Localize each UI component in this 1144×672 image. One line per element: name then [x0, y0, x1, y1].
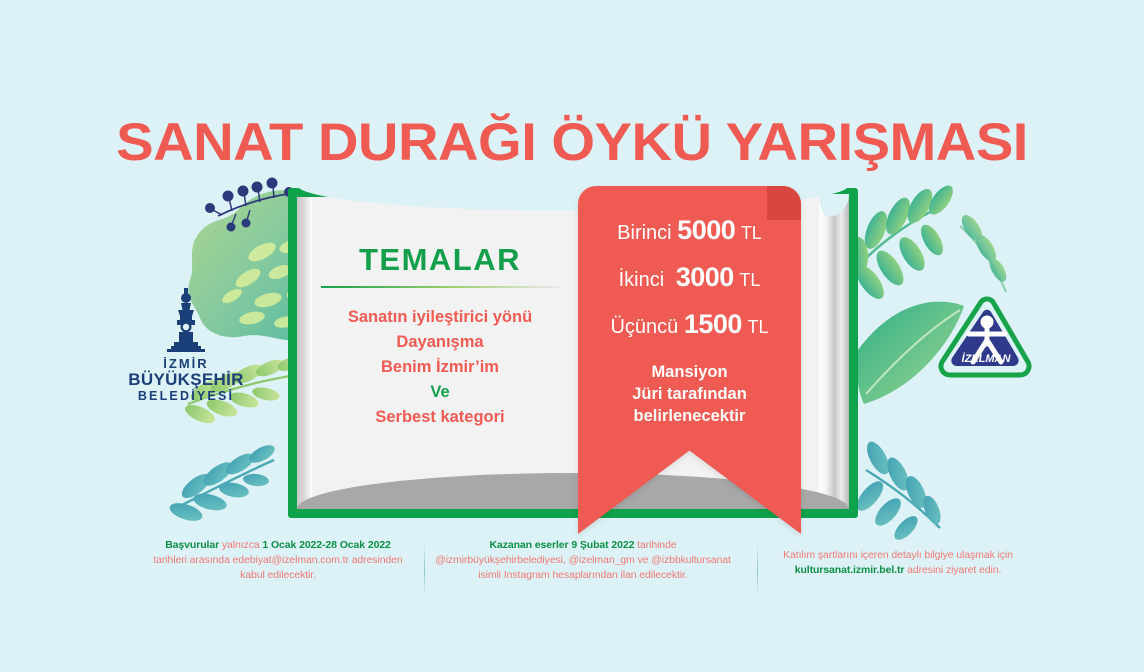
logo-line-belediyesi: BELEDİYESİ	[127, 389, 245, 403]
logo-line-buyuksehir: BÜYÜKŞEHİR	[127, 371, 245, 389]
footer-col2-bold1: Kazanan eserler 9 Şubat 2022	[489, 539, 634, 551]
footer-col1-bold1: Başvurular	[165, 539, 219, 551]
left-branch-teal	[168, 442, 278, 525]
right-fern-small	[958, 212, 1010, 292]
prize-row-3: Üçüncü 1500 TL	[578, 312, 801, 339]
prize-amount-3: 1500	[684, 309, 742, 339]
izelman-triangle-icon: İZELMAN	[936, 296, 1034, 382]
prize-label-2: İkinci	[619, 269, 665, 291]
footer-col2-rest1: tarihinde	[634, 539, 676, 551]
prize-currency-1: TL	[741, 223, 762, 243]
footer-col1-bold2: 1 Ocak 2022-28 Ocak 2022	[262, 539, 390, 551]
mention-line-1: Mansiyon	[578, 361, 801, 383]
clock-tower-icon	[154, 286, 218, 356]
footer: Başvurular yalnızca 1 Ocak 2022-28 Ocak …	[0, 538, 1144, 608]
footer-col3-bold: kultursanat.izmir.bel.tr	[795, 564, 905, 576]
themes-divider	[321, 286, 559, 288]
right-fern-teal	[852, 438, 944, 543]
prize-row-2: İkinci 3000 TL	[578, 265, 801, 292]
prize-amount-1: 5000	[677, 215, 735, 245]
theme-item-5: Serbest kategori	[315, 405, 565, 430]
izelman-label: İZELMAN	[962, 352, 1012, 365]
berry-branch	[206, 178, 294, 231]
poster-title: SANAT DURAĞI ÖYKÜ YARIŞMASI	[0, 112, 1144, 173]
book-left-page-edge	[297, 197, 312, 509]
footer-col3-line1: Katılım şartlarını içeren detaylı bilgiy…	[748, 548, 1048, 563]
prize-amount-2: 3000	[676, 262, 734, 292]
izmir-municipality-logo: İZMİR BÜYÜKŞEHİR BELEDİYESİ	[127, 286, 245, 403]
theme-item-2: Dayanışma	[315, 330, 565, 355]
right-fern	[850, 182, 957, 304]
mention-line-2: Jüri tarafından	[578, 383, 801, 405]
themes-heading: TEMALAR	[315, 242, 565, 278]
book-right-page-edge	[819, 197, 849, 509]
theme-item-4: Ve	[315, 380, 565, 405]
footer-column-details: Katılım şartlarını içeren detaylı bilgiy…	[748, 548, 1048, 578]
prize-currency-3: TL	[748, 317, 769, 337]
footer-col3-line2: kultursanat.izmir.bel.tr adresini ziyare…	[748, 563, 1048, 578]
theme-item-1: Sanatın iyileştirici yönü	[315, 305, 565, 330]
izelman-logo: İZELMAN	[936, 296, 1034, 382]
footer-col2-line3: isimli Instagram hesaplarından ilan edil…	[418, 568, 748, 583]
prizes-panel: Birinci 5000 TL İkinci 3000 TL Üçüncü 15…	[578, 218, 801, 427]
ribbon-fold-shadow	[767, 186, 801, 220]
footer-column-winners: Kazanan eserler 9 Şubat 2022 tarihinde @…	[418, 538, 748, 583]
themes-panel: TEMALAR Sanatın iyileştirici yönü Dayanı…	[315, 200, 565, 430]
footer-col2-line1: Kazanan eserler 9 Şubat 2022 tarihinde	[418, 538, 748, 553]
prize-label-3: Üçüncü	[610, 316, 678, 338]
prize-currency-2: TL	[739, 270, 760, 290]
mention-block: Mansiyon Jüri tarafından belirlenecektir	[578, 361, 801, 427]
footer-column-applications: Başvurular yalnızca 1 Ocak 2022-28 Ocak …	[118, 538, 438, 583]
footer-col1-line3: kabul edilecektir.	[118, 568, 438, 583]
poster-root: SANAT DURAĞI ÖYKÜ YARIŞMASI İZMİR BÜYÜKŞ…	[0, 0, 1144, 672]
footer-col1-rest1: yalnızca	[219, 539, 262, 551]
mention-line-3: belirlenecektir	[578, 405, 801, 427]
footer-col1-line2: tarihleri arasında edebiyat@izelman.com.…	[118, 553, 438, 568]
prize-row-1: Birinci 5000 TL	[578, 218, 801, 245]
footer-col2-line2: @izmirbüyükşehirbelediyesi, @izelman_gm …	[418, 553, 748, 568]
footer-col3-rest: adresini ziyaret edin.	[904, 564, 1001, 576]
prize-label-1: Birinci	[617, 222, 671, 244]
logo-line-izmir: İZMİR	[127, 357, 245, 371]
theme-item-3: Benim İzmir’im	[315, 355, 565, 380]
themes-list: Sanatın iyileştirici yönü Dayanışma Beni…	[315, 305, 565, 430]
footer-col1-line1: Başvurular yalnızca 1 Ocak 2022-28 Ocak …	[118, 538, 438, 553]
